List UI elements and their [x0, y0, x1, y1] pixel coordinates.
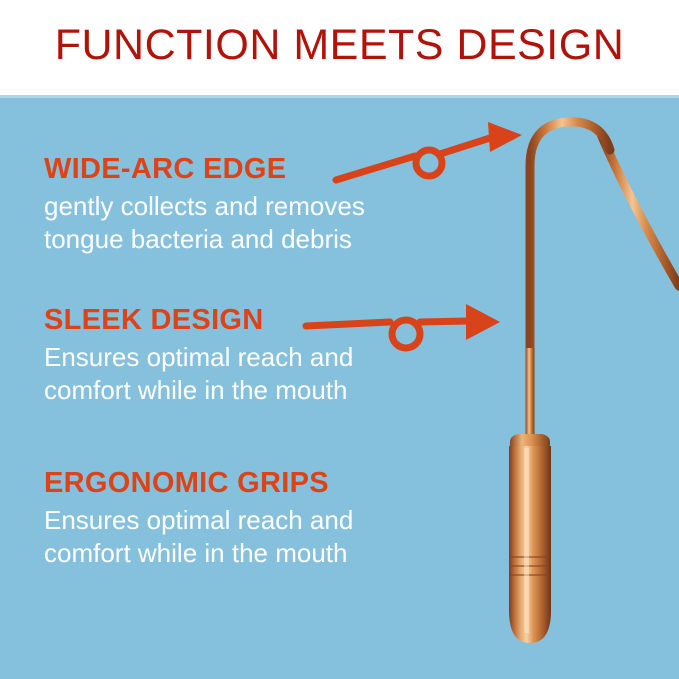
feature-heading: WIDE-ARC EDGE: [44, 152, 365, 186]
feature-heading: ERGONOMIC GRIPS: [44, 466, 353, 500]
feature-body: Ensures optimal reach and comfort while …: [44, 504, 353, 570]
product-image-copper-tongue-cleaner: [430, 98, 679, 679]
feature-heading: SLEEK DESIGN: [44, 303, 353, 337]
feature-body-line: Ensures optimal reach and: [44, 504, 353, 537]
product-handle-highlight: [524, 448, 529, 633]
page-title: FUNCTION MEETS DESIGN: [0, 21, 679, 70]
feature-body: Ensures optimal reach and comfort while …: [44, 341, 353, 407]
header-band: FUNCTION MEETS DESIGN: [0, 0, 679, 95]
feature-block-wide-arc-edge: WIDE-ARC EDGE gently collects and remove…: [44, 152, 365, 256]
feature-body: gently collects and removes tongue bacte…: [44, 190, 365, 256]
feature-block-ergonomic-grips: ERGONOMIC GRIPS Ensures optimal reach an…: [44, 466, 353, 570]
product-wide-arc-edge: [530, 122, 610, 388]
product-infographic: FUNCTION MEETS DESIGN: [0, 0, 679, 679]
feature-body-line: gently collects and removes: [44, 190, 365, 223]
feature-body-line: tongue bacteria and debris: [44, 223, 365, 256]
product-arc-right-leg: [601, 134, 679, 286]
feature-block-sleek-design: SLEEK DESIGN Ensures optimal reach and c…: [44, 303, 353, 407]
product-shaft: [526, 348, 535, 448]
feature-body-line: comfort while in the mouth: [44, 537, 353, 570]
product-handle: [509, 446, 551, 643]
feature-body-line: comfort while in the mouth: [44, 374, 353, 407]
feature-body-line: Ensures optimal reach and: [44, 341, 353, 374]
